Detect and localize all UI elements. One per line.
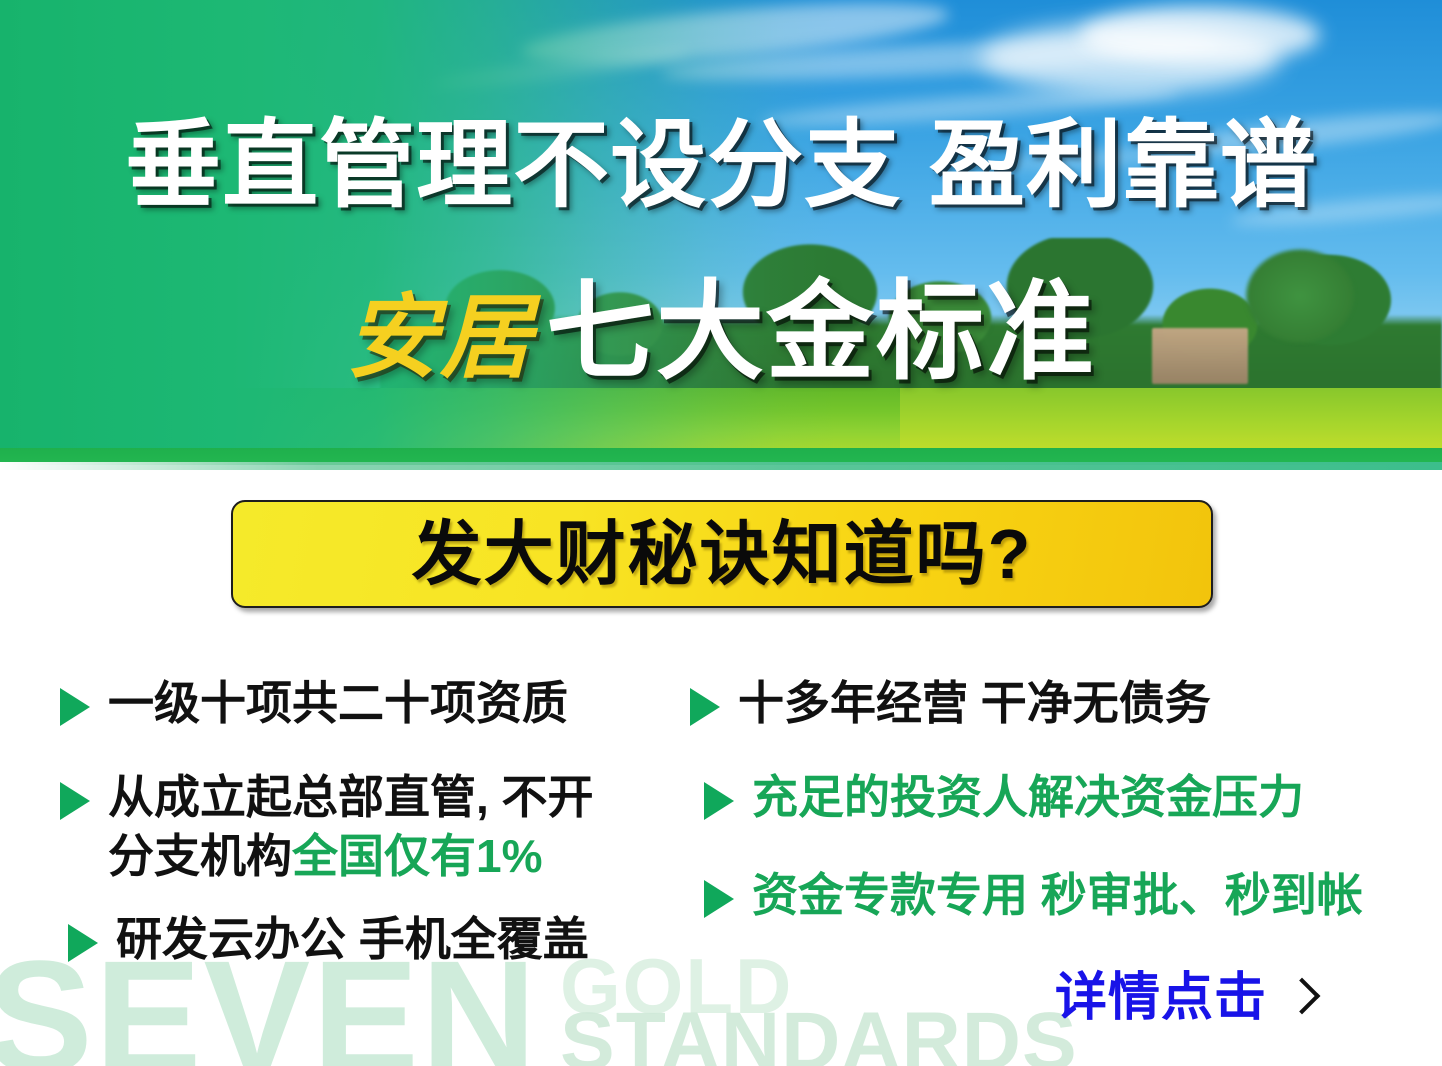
watermark-standards: STANDARDS [560,1001,1078,1066]
list-item-label: 充足的投资人解决资金压力 [752,768,1304,827]
hero-headline-gold-text: 安居 [346,287,534,389]
triangle-right-icon [704,880,734,918]
triangle-right-icon [704,782,734,820]
list-item: 资金专款专用 秒审批、秒到帐 [704,866,1363,925]
triangle-right-icon [60,688,90,726]
list-item: 充足的投资人解决资金压力 [704,768,1304,827]
list-item-text-highlight: 全国仅有1% [292,830,542,882]
list-item: 从成立起总部直管, 不开 分支机构全国仅有1% [60,768,594,886]
list-item: 研发云办公 手机全覆盖 [68,910,589,969]
triangle-right-icon [60,782,90,820]
hero-headline-secondary: 安居七大金标准 [0,278,1442,386]
list-item-line: 分支机构全国仅有1% [108,827,594,886]
details-cta-link[interactable]: 详情点击 [1055,972,1315,1024]
triangle-right-icon [68,924,98,962]
feature-list: 一级十项共二十项资质 从成立起总部直管, 不开 分支机构全国仅有1% 研发云办公… [0,660,1442,1000]
list-item-line: 一级十项共二十项资质 [108,674,568,733]
list-item-line: 资金专款专用 秒审批、秒到帐 [752,866,1363,925]
list-item-label: 十多年经营 干净无债务 [738,674,1211,733]
hero-banner: 垂直管理不设分支 盈利靠谱 安居七大金标准 [0,0,1442,470]
list-item-line: 十多年经营 干净无债务 [738,674,1211,733]
list-item-label: 从成立起总部直管, 不开 分支机构全国仅有1% [108,768,594,886]
details-cta-label: 详情点击 [1055,972,1267,1024]
highlight-banner-text: 发大财秘诀知道吗? [412,519,1033,589]
list-item-line: 研发云办公 手机全覆盖 [116,910,589,969]
hero-bottom-fade-strip [0,462,1442,470]
list-item-line: 充足的投资人解决资金压力 [752,768,1304,827]
list-item-label: 一级十项共二十项资质 [108,674,568,733]
list-item-label: 研发云办公 手机全覆盖 [116,910,589,969]
triangle-right-icon [690,688,720,726]
highlight-banner[interactable]: 发大财秘诀知道吗? [231,500,1213,608]
list-item: 一级十项共二十项资质 [60,674,568,733]
list-item-label: 资金专款专用 秒审批、秒到帐 [752,866,1363,925]
list-item-line: 从成立起总部直管, 不开 [108,768,594,827]
hero-headline-primary: 垂直管理不设分支 盈利靠谱 [0,118,1442,214]
hero-headline-white-text: 七大金标准 [546,271,1096,392]
list-item: 十多年经营 干净无债务 [690,674,1211,733]
chevron-right-icon [1284,978,1321,1015]
list-item-text-plain: 分支机构 [108,830,292,882]
